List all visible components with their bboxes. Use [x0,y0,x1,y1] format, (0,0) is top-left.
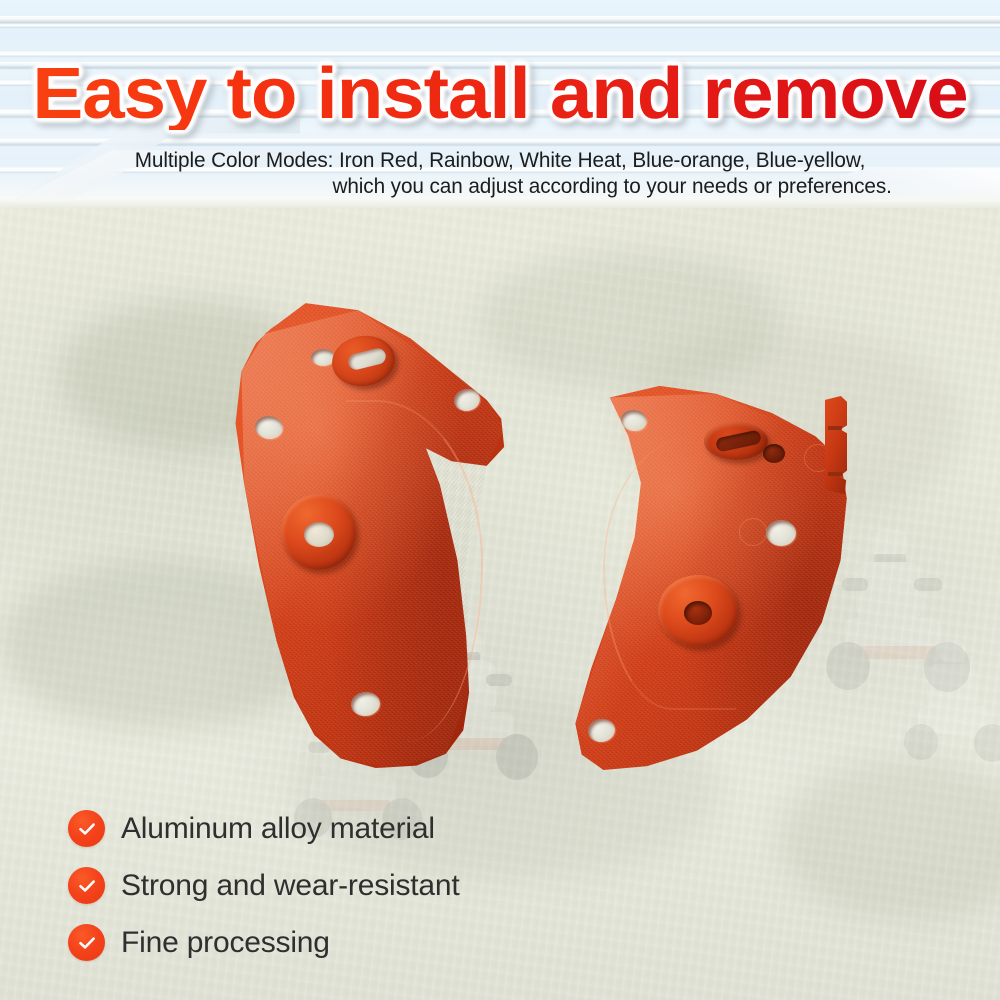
banner-stripe [0,16,1000,23]
right-bracket-scribe-circle-mid [739,518,767,546]
page-subtitle: Multiple Color Modes: Iron Red, Rainbow,… [104,147,895,199]
list-item: Aluminum alloy material [68,800,628,857]
feature-label: Fine processing [121,926,330,960]
right-bracket-mounting-tab [825,396,847,494]
page-title: Easy to install and remove [0,58,1000,130]
right-bracket-hole-mid-right [766,520,796,546]
right-bracket-hole-upper-mid [763,444,785,463]
feature-label: Strong and wear-resistant [121,869,460,903]
subtitle-line-1: Multiple Color Modes: Iron Red, Rainbow,… [135,148,866,172]
list-item: Fine processing [68,914,628,971]
right-bracket-tab-notch-lower [828,472,842,476]
product-marketing-image: Easy to install and remove Multiple Colo… [0,0,1000,1000]
check-circle-icon [68,867,105,904]
list-item: Strong and wear-resistant [68,857,628,914]
background-atv-rider [900,640,1000,770]
right-bracket-center-bore [684,601,712,625]
check-circle-icon [68,924,105,961]
product-part-left-bracket [218,296,510,768]
right-bracket-tab-notch-upper [828,426,842,430]
left-bracket-center-bore [304,522,334,547]
feature-label: Aluminum alloy material [121,812,435,846]
feature-list: Aluminum alloy material Strong and wear-… [68,800,628,971]
right-bracket-scribe-line [603,436,736,710]
product-part-right-bracket [566,382,878,770]
subtitle-line-2: which you can adjust according to your n… [104,173,895,199]
check-circle-icon [68,810,105,847]
